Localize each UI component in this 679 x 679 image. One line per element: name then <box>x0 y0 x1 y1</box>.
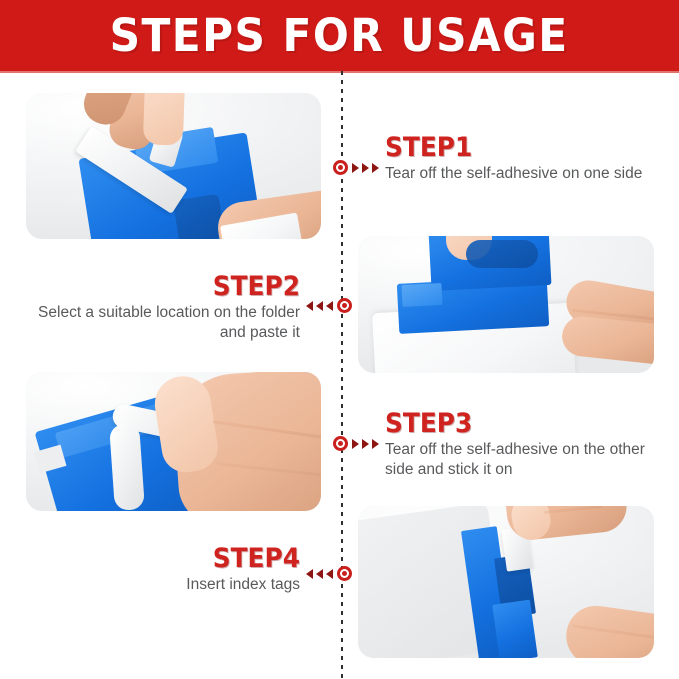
step4-photo <box>358 506 654 658</box>
step2-connector <box>306 298 352 313</box>
banner-underline <box>0 71 679 73</box>
arrow-right-icon <box>352 439 379 449</box>
bullseye-icon <box>333 160 348 175</box>
step3-text-block: STEP3 Tear off the self-adhesive on the … <box>385 410 665 481</box>
step1-description: Tear off the self-adhesive on one side <box>385 164 665 184</box>
step3-description: Tear off the self-adhesive on the other … <box>385 440 665 480</box>
arrow-left-icon <box>306 301 333 311</box>
blue-tab-shadow <box>173 194 225 239</box>
hand-thumb <box>143 93 185 146</box>
step1-photo <box>26 93 321 239</box>
step3-photo <box>26 372 321 511</box>
step1-connector <box>333 160 379 175</box>
step3-connector <box>333 436 379 451</box>
blue-tab-highlight <box>401 283 442 307</box>
step4-description: Insert index tags <box>25 575 300 595</box>
bullseye-icon <box>337 566 352 581</box>
step4-text-block: STEP4 Insert index tags <box>25 545 300 595</box>
header-banner: STEPS FOR USAGE <box>0 0 679 71</box>
step2-photo <box>358 236 654 373</box>
step1-title: STEP1 <box>385 134 643 162</box>
step4-title: STEP4 <box>47 545 300 573</box>
tab-press-shadow <box>466 240 538 268</box>
arrow-right-icon <box>352 163 379 173</box>
step4-connector <box>306 566 352 581</box>
step2-text-block: STEP2 Select a suitable location on the … <box>25 273 300 344</box>
step2-title: STEP2 <box>47 273 300 301</box>
page-title: STEPS FOR USAGE <box>110 13 569 58</box>
step1-text-block: STEP1 Tear off the self-adhesive on one … <box>385 134 665 184</box>
step3-title: STEP3 <box>385 410 643 438</box>
bullseye-icon <box>337 298 352 313</box>
adhesive-liner-curve <box>109 423 145 511</box>
blue-tab-lower <box>492 600 538 658</box>
arrow-left-icon <box>306 569 333 579</box>
step2-description: Select a suitable location on the folder… <box>25 303 300 343</box>
bullseye-icon <box>333 436 348 451</box>
